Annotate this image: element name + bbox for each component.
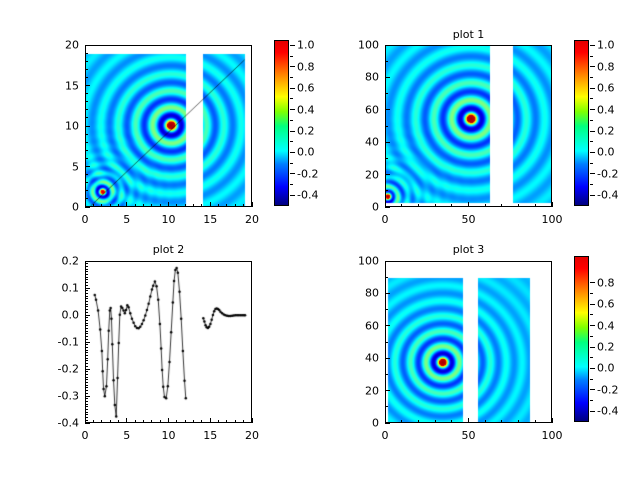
- y-minor-tick: [85, 325, 88, 326]
- y-minor-tick: [85, 409, 88, 410]
- x-minor-tick: [118, 204, 119, 207]
- colorbar-tick-label: 0.0: [597, 362, 615, 375]
- x-tick: [126, 202, 127, 207]
- y-minor-tick: [85, 304, 88, 305]
- x-tick-label: 5: [123, 429, 130, 442]
- x-minor-tick: [151, 204, 152, 207]
- colorbar-tick: [590, 389, 595, 390]
- y-minor-tick: [85, 150, 88, 151]
- y-minor-tick: [85, 350, 88, 351]
- y-minor-tick: [85, 158, 88, 159]
- colorbar-gradient: [575, 257, 588, 421]
- x-minor-tick: [401, 420, 402, 423]
- x-minor-tick: [176, 204, 177, 207]
- y-tick-label: -0.4: [37, 417, 79, 430]
- colorbar-tick-label: -0.4: [597, 189, 618, 202]
- y-tick: [385, 325, 390, 326]
- y-tick-label: 5: [37, 160, 79, 173]
- y-minor-tick: [385, 61, 388, 62]
- y-tick: [85, 342, 90, 343]
- colorbar-tick-label: 0.6: [597, 298, 615, 311]
- x-tick-label: 0: [382, 213, 389, 226]
- x-minor-tick: [418, 420, 419, 423]
- x-minor-tick: [418, 204, 419, 207]
- y-minor-tick: [85, 285, 88, 286]
- colorbar-minor-tick: [290, 120, 293, 121]
- y-minor-tick: [85, 101, 88, 102]
- y-tick: [385, 109, 390, 110]
- y-minor-tick: [85, 323, 88, 324]
- x-tick: [168, 418, 169, 423]
- y-tick: [85, 126, 90, 127]
- y-minor-tick: [85, 393, 88, 394]
- y-minor-tick: [385, 126, 388, 127]
- colorbar-tick: [290, 88, 295, 89]
- x-minor-tick: [243, 420, 244, 423]
- y-tick-label: 0: [337, 201, 379, 214]
- x-tick-label: 5: [123, 213, 130, 226]
- x-minor-tick: [135, 420, 136, 423]
- y-tick: [85, 85, 90, 86]
- y-minor-tick: [85, 279, 88, 280]
- y-tick: [85, 396, 90, 397]
- colorbar-minor-tick: [590, 379, 593, 380]
- x-minor-tick: [143, 204, 144, 207]
- y-minor-tick: [85, 352, 88, 353]
- colorbar-gradient: [275, 41, 288, 205]
- colorbar-tick: [590, 131, 595, 132]
- y-minor-tick: [85, 320, 88, 321]
- colorbar-minor-tick: [290, 163, 293, 164]
- x-minor-tick: [518, 204, 519, 207]
- x-tick-label: 0: [82, 429, 89, 442]
- colorbar-tick: [590, 66, 595, 67]
- x-minor-tick: [501, 204, 502, 207]
- y-minor-tick: [85, 358, 88, 359]
- x-minor-tick: [435, 204, 436, 207]
- colorbar-tick: [290, 173, 295, 174]
- y-tick-label: 60: [337, 319, 379, 332]
- x-tick: [468, 418, 469, 423]
- heatmap-canvas: [86, 46, 252, 207]
- y-tick: [85, 261, 90, 262]
- colorbar-tick-label: -0.4: [597, 405, 618, 418]
- colorbar-minor-tick: [590, 357, 593, 358]
- plot-top-right: plot 1 050100020406080100 1.00.80.60.40.…: [320, 0, 640, 240]
- plot-top-left-axes: [85, 45, 252, 207]
- colorbar-tick-label: 0.4: [597, 319, 615, 332]
- y-minor-tick: [85, 420, 88, 421]
- y-tick: [385, 77, 390, 78]
- colorbar-tick-label: -0.4: [297, 189, 318, 202]
- colorbar-minor-tick: [590, 163, 593, 164]
- x-tick-label: 0: [382, 429, 389, 442]
- y-minor-tick: [85, 290, 88, 291]
- colorbar-tick: [290, 45, 295, 46]
- colorbar-minor-tick: [290, 77, 293, 78]
- y-tick-label: 20: [337, 384, 379, 397]
- x-tick-label: 20: [245, 213, 259, 226]
- y-minor-tick: [385, 158, 388, 159]
- x-tick: [210, 202, 211, 207]
- colorbar-tick-label: 1.0: [597, 39, 615, 52]
- x-minor-tick: [160, 420, 161, 423]
- y-minor-tick: [85, 271, 88, 272]
- y-minor-tick: [85, 190, 88, 191]
- x-minor-tick: [93, 420, 94, 423]
- heatmap-canvas: [386, 262, 552, 423]
- y-tick: [85, 207, 90, 208]
- y-minor-tick: [85, 363, 88, 364]
- y-minor-tick: [85, 387, 88, 388]
- x-minor-tick: [501, 420, 502, 423]
- colorbar-tick-label: 0.6: [597, 82, 615, 95]
- y-tick: [85, 166, 90, 167]
- y-minor-tick: [385, 93, 388, 94]
- x-minor-tick: [135, 204, 136, 207]
- colorbar-tick: [290, 66, 295, 67]
- x-minor-tick: [160, 204, 161, 207]
- y-tick: [385, 390, 390, 391]
- plot-bottom-right: plot 3 050100020406080100 0.80.60.40.20.…: [320, 240, 640, 480]
- y-minor-tick: [85, 117, 88, 118]
- plot-top-right-title: plot 1: [385, 28, 552, 41]
- y-minor-tick: [85, 347, 88, 348]
- plot-bottom-left: plot 2 051015200.20.10.0-0.1-0.2-0.3-0.4: [0, 240, 320, 480]
- y-minor-tick: [85, 142, 88, 143]
- x-tick: [168, 202, 169, 207]
- y-minor-tick: [85, 412, 88, 413]
- y-tick-label: -0.3: [37, 390, 79, 403]
- y-minor-tick: [85, 174, 88, 175]
- x-minor-tick: [451, 420, 452, 423]
- y-minor-tick: [85, 331, 88, 332]
- y-tick-label: 60: [337, 103, 379, 116]
- y-tick: [385, 45, 390, 46]
- x-tick: [252, 418, 253, 423]
- y-tick: [385, 358, 390, 359]
- y-minor-tick: [85, 374, 88, 375]
- colorbar-tick: [290, 195, 295, 196]
- y-tick: [385, 423, 390, 424]
- x-minor-tick: [101, 420, 102, 423]
- y-minor-tick: [85, 379, 88, 380]
- colorbar-gradient: [575, 41, 588, 205]
- colorbar-minor-tick: [590, 314, 593, 315]
- y-tick: [85, 423, 90, 424]
- y-tick: [85, 369, 90, 370]
- x-minor-tick: [101, 204, 102, 207]
- colorbar-minor-tick: [590, 184, 593, 185]
- y-tick: [385, 142, 390, 143]
- y-minor-tick: [85, 277, 88, 278]
- y-minor-tick: [85, 296, 88, 297]
- x-tick: [468, 202, 469, 207]
- y-minor-tick: [85, 406, 88, 407]
- y-minor-tick: [85, 404, 88, 405]
- y-minor-tick: [85, 366, 88, 367]
- y-minor-tick: [85, 298, 88, 299]
- colorbar-tick-label: 0.6: [297, 82, 315, 95]
- y-minor-tick: [85, 398, 88, 399]
- y-minor-tick: [385, 309, 388, 310]
- x-tick-label: 100: [542, 429, 563, 442]
- colorbar-tick: [590, 325, 595, 326]
- y-minor-tick: [85, 336, 88, 337]
- x-tick: [252, 202, 253, 207]
- colorbar-tick-label: 0.8: [297, 60, 315, 73]
- plot-top-left: 0510152005101520 1.00.80.60.40.20.0-0.2-…: [0, 0, 320, 240]
- colorbar-tick: [590, 45, 595, 46]
- colorbar-tick-label: -0.2: [597, 167, 618, 180]
- x-minor-tick: [218, 420, 219, 423]
- x-tick-label: 10: [162, 429, 176, 442]
- x-minor-tick: [151, 420, 152, 423]
- y-minor-tick: [85, 266, 88, 267]
- x-tick-label: 15: [203, 213, 217, 226]
- x-tick-label: 50: [462, 429, 476, 442]
- plot-top-left-colorbar: [274, 40, 289, 206]
- x-tick-label: 15: [203, 429, 217, 442]
- y-tick-label: 15: [37, 79, 79, 92]
- colorbar-tick-label: 0.4: [597, 103, 615, 116]
- y-minor-tick: [385, 190, 388, 191]
- y-minor-tick: [85, 274, 88, 275]
- colorbar-minor-tick: [590, 141, 593, 142]
- y-minor-tick: [85, 109, 88, 110]
- colorbar-tick: [290, 131, 295, 132]
- y-minor-tick: [85, 69, 88, 70]
- colorbar-tick-label: -0.2: [597, 383, 618, 396]
- x-minor-tick: [185, 204, 186, 207]
- y-minor-tick: [85, 306, 88, 307]
- colorbar-tick-label: 0.0: [597, 146, 615, 159]
- y-minor-tick: [85, 377, 88, 378]
- y-minor-tick: [85, 371, 88, 372]
- x-minor-tick: [451, 204, 452, 207]
- plot-bottom-left-title: plot 2: [85, 243, 252, 256]
- colorbar-minor-tick: [590, 336, 593, 337]
- y-tick-label: 0.2: [37, 255, 79, 268]
- y-tick-label: 0.0: [37, 309, 79, 322]
- x-minor-tick: [485, 204, 486, 207]
- colorbar-minor-tick: [290, 56, 293, 57]
- y-minor-tick: [85, 269, 88, 270]
- colorbar-tick: [590, 152, 595, 153]
- x-minor-tick: [401, 204, 402, 207]
- colorbar-tick: [590, 173, 595, 174]
- x-minor-tick: [110, 420, 111, 423]
- colorbar-tick: [590, 88, 595, 89]
- y-minor-tick: [385, 342, 388, 343]
- x-minor-tick: [176, 420, 177, 423]
- colorbar-tick-label: 0.8: [597, 276, 615, 289]
- y-minor-tick: [85, 333, 88, 334]
- colorbar-minor-tick: [590, 120, 593, 121]
- x-minor-tick: [235, 204, 236, 207]
- plot-bottom-right-title: plot 3: [385, 243, 552, 256]
- x-minor-tick: [185, 420, 186, 423]
- y-tick-label: 40: [337, 136, 379, 149]
- x-minor-tick: [201, 204, 202, 207]
- x-minor-tick: [485, 420, 486, 423]
- x-tick: [552, 418, 553, 423]
- y-minor-tick: [85, 93, 88, 94]
- y-minor-tick: [85, 134, 88, 135]
- y-minor-tick: [85, 309, 88, 310]
- colorbar-tick: [590, 195, 595, 196]
- colorbar-tick-label: 0.2: [597, 125, 615, 138]
- y-minor-tick: [85, 301, 88, 302]
- y-tick-label: 80: [337, 287, 379, 300]
- colorbar-minor-tick: [290, 141, 293, 142]
- y-minor-tick: [385, 406, 388, 407]
- y-tick: [85, 288, 90, 289]
- colorbar-tick: [590, 411, 595, 412]
- y-minor-tick: [85, 312, 88, 313]
- x-minor-tick: [243, 204, 244, 207]
- y-tick: [385, 174, 390, 175]
- y-minor-tick: [85, 263, 88, 264]
- x-minor-tick: [201, 420, 202, 423]
- colorbar-tick: [590, 304, 595, 305]
- y-tick-label: 0: [337, 417, 379, 430]
- x-tick-label: 0: [82, 213, 89, 226]
- x-minor-tick: [218, 204, 219, 207]
- y-tick: [385, 207, 390, 208]
- y-minor-tick: [85, 198, 88, 199]
- colorbar-minor-tick: [290, 184, 293, 185]
- colorbar-tick: [590, 368, 595, 369]
- x-tick-label: 20: [245, 429, 259, 442]
- colorbar-tick-label: 0.4: [297, 103, 315, 116]
- y-minor-tick: [85, 339, 88, 340]
- x-tick-label: 50: [462, 213, 476, 226]
- colorbar-tick-label: 0.0: [297, 146, 315, 159]
- x-minor-tick: [193, 204, 194, 207]
- colorbar-tick: [590, 109, 595, 110]
- y-tick-label: 40: [337, 352, 379, 365]
- colorbar-tick-label: 0.8: [597, 60, 615, 73]
- y-tick-label: 20: [337, 168, 379, 181]
- y-tick-label: 100: [337, 255, 379, 268]
- y-minor-tick: [85, 317, 88, 318]
- y-minor-tick: [85, 360, 88, 361]
- x-tick-label: 100: [542, 213, 563, 226]
- x-tick: [210, 418, 211, 423]
- y-tick-label: 100: [337, 39, 379, 52]
- colorbar-minor-tick: [590, 98, 593, 99]
- y-minor-tick: [85, 61, 88, 62]
- colorbar-tick-label: 0.2: [297, 125, 315, 138]
- colorbar-minor-tick: [590, 56, 593, 57]
- y-minor-tick: [385, 277, 388, 278]
- colorbar-minor-tick: [290, 98, 293, 99]
- y-minor-tick: [85, 77, 88, 78]
- colorbar-tick: [590, 347, 595, 348]
- colorbar-tick: [290, 152, 295, 153]
- y-tick-label: 0: [37, 201, 79, 214]
- plot-top-right-colorbar: [574, 40, 589, 206]
- y-tick-label: 20: [37, 39, 79, 52]
- x-minor-tick: [535, 204, 536, 207]
- plot-bottom-right-axes: [385, 261, 552, 423]
- heatmap-canvas: [386, 46, 552, 207]
- y-minor-tick: [85, 53, 88, 54]
- y-minor-tick: [85, 355, 88, 356]
- x-minor-tick: [235, 420, 236, 423]
- y-minor-tick: [85, 414, 88, 415]
- y-tick: [385, 293, 390, 294]
- y-tick-label: 0.1: [37, 282, 79, 295]
- x-tick: [126, 418, 127, 423]
- y-minor-tick: [85, 390, 88, 391]
- y-tick: [85, 45, 90, 46]
- x-minor-tick: [435, 420, 436, 423]
- y-tick-label: -0.1: [37, 336, 79, 349]
- x-tick-label: 10: [162, 213, 176, 226]
- x-minor-tick: [226, 204, 227, 207]
- plot-top-right-axes: [385, 45, 552, 207]
- line-series-canvas: [86, 262, 252, 423]
- y-minor-tick: [85, 328, 88, 329]
- y-minor-tick: [85, 282, 88, 283]
- y-tick-label: 10: [37, 120, 79, 133]
- y-minor-tick: [85, 385, 88, 386]
- y-tick: [385, 261, 390, 262]
- x-minor-tick: [535, 420, 536, 423]
- x-tick: [552, 202, 553, 207]
- colorbar-tick-label: 0.2: [597, 341, 615, 354]
- y-minor-tick: [85, 344, 88, 345]
- x-minor-tick: [93, 204, 94, 207]
- x-minor-tick: [110, 204, 111, 207]
- y-minor-tick: [85, 417, 88, 418]
- colorbar-minor-tick: [590, 77, 593, 78]
- y-minor-tick: [85, 401, 88, 402]
- y-minor-tick: [385, 374, 388, 375]
- x-minor-tick: [118, 420, 119, 423]
- plot-bottom-right-colorbar: [574, 256, 589, 422]
- x-minor-tick: [226, 420, 227, 423]
- colorbar-minor-tick: [590, 293, 593, 294]
- x-minor-tick: [143, 420, 144, 423]
- colorbar-tick: [590, 282, 595, 283]
- x-minor-tick: [193, 420, 194, 423]
- y-minor-tick: [85, 293, 88, 294]
- y-tick-label: -0.2: [37, 363, 79, 376]
- y-tick: [85, 315, 90, 316]
- y-minor-tick: [85, 382, 88, 383]
- y-minor-tick: [85, 182, 88, 183]
- x-minor-tick: [518, 420, 519, 423]
- colorbar-minor-tick: [590, 400, 593, 401]
- colorbar-tick-label: -0.2: [297, 167, 318, 180]
- y-tick-label: 80: [337, 71, 379, 84]
- colorbar-tick-label: 1.0: [297, 39, 315, 52]
- colorbar-tick: [290, 109, 295, 110]
- plot-bottom-left-axes: [85, 261, 252, 423]
